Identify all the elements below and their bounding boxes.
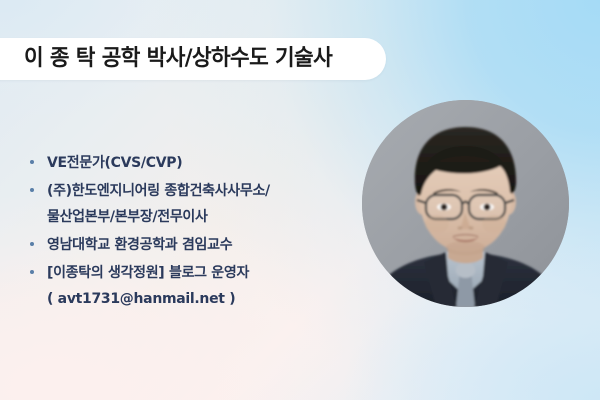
page-title: 이 종 탁 공학 박사/상하수도 기술사 xyxy=(24,48,332,70)
profile-slide: 이 종 탁 공학 박사/상하수도 기술사 VE전문가(CVS/CVP) (주)한… xyxy=(0,0,600,400)
list-item-body: VE전문가(CVS/CVP) xyxy=(47,150,340,176)
list-item-line: [이종탁의 생각정원] 블로그 운영자 xyxy=(47,260,340,286)
list-item: [이종탁의 생각정원] 블로그 운영자 ( avt1731@hanmail.ne… xyxy=(30,260,340,312)
bullet-dot-icon xyxy=(30,188,34,192)
bullet-dot-icon xyxy=(30,270,34,274)
list-item-line: VE전문가(CVS/CVP) xyxy=(47,150,340,176)
portrait-photo xyxy=(362,100,569,307)
title-banner: 이 종 탁 공학 박사/상하수도 기술사 xyxy=(0,38,386,80)
bullet-dot-icon xyxy=(30,160,34,164)
avatar xyxy=(362,100,569,307)
list-item: (주)한도엔지니어링 종합건축사사무소/ 물산업본부/본부장/전무이사 xyxy=(30,178,340,230)
list-item-line: 영남대학교 환경공학과 겸임교수 xyxy=(47,232,340,258)
list-item: VE전문가(CVS/CVP) xyxy=(30,150,340,176)
list-item-body: [이종탁의 생각정원] 블로그 운영자 ( avt1731@hanmail.ne… xyxy=(47,260,340,312)
list-item-line: (주)한도엔지니어링 종합건축사사무소/ xyxy=(47,178,340,204)
list-item-body: (주)한도엔지니어링 종합건축사사무소/ 물산업본부/본부장/전무이사 xyxy=(47,178,340,230)
bullet-dot-icon xyxy=(30,242,34,246)
profile-bullet-list: VE전문가(CVS/CVP) (주)한도엔지니어링 종합건축사사무소/ 물산업본… xyxy=(30,150,340,314)
list-item: 영남대학교 환경공학과 겸임교수 xyxy=(30,232,340,258)
list-item-body: 영남대학교 환경공학과 겸임교수 xyxy=(47,232,340,258)
list-item-line-continued: 물산업본부/본부장/전무이사 xyxy=(47,204,340,230)
contact-email-line: ( avt1731@hanmail.net ) xyxy=(47,286,340,312)
